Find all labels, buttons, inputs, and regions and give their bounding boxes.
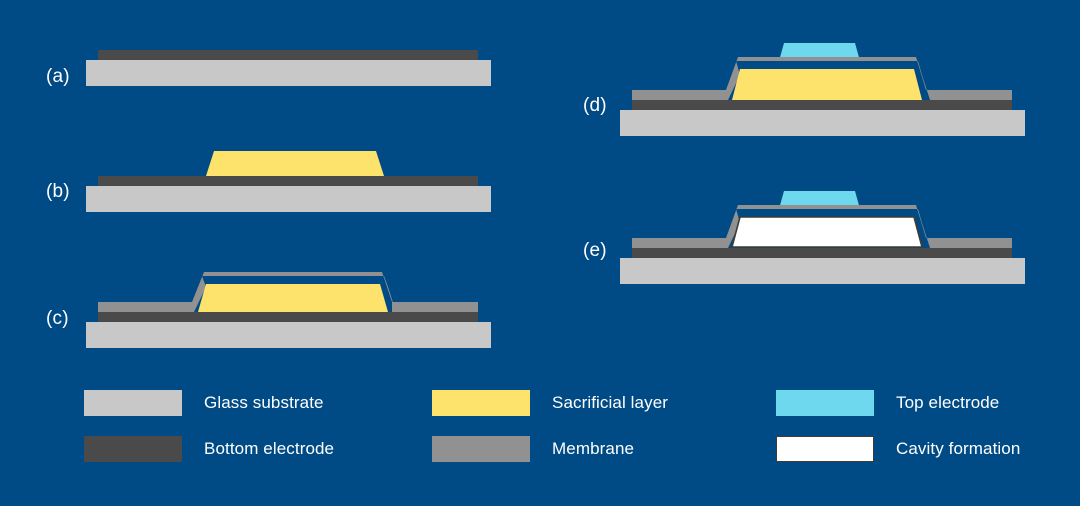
legend-swatch-sacrificial-layer: [432, 390, 530, 416]
panel-label-d: (d): [583, 95, 607, 117]
sacrificial-layer-shape: [206, 151, 384, 176]
legend-swatch-cavity-formation: [776, 436, 874, 462]
bottom-electrode-layer: [98, 312, 478, 322]
legend-swatch-membrane: [432, 436, 530, 462]
legend-item-cavity-formation: Cavity formation: [776, 436, 1020, 462]
bottom-electrode-layer: [98, 176, 478, 186]
glass-substrate-layer: [86, 322, 491, 348]
legend-label-cavity-formation: Cavity formation: [896, 439, 1020, 459]
legend-label-top-electrode: Top electrode: [896, 393, 999, 413]
legend-item-sacrificial-layer: Sacrificial layer: [432, 390, 668, 416]
glass-substrate-layer: [620, 110, 1025, 136]
legend-swatch-bottom-electrode: [84, 436, 182, 462]
panel-label-c: (c): [46, 308, 69, 330]
legend-label-bottom-electrode: Bottom electrode: [204, 439, 334, 459]
legend-swatch-glass-substrate: [84, 390, 182, 416]
sacrificial-layer-shape: [732, 69, 922, 100]
legend-item-membrane: Membrane: [432, 436, 634, 462]
glass-substrate-layer: [620, 258, 1025, 284]
panel-e-stack: [620, 186, 1030, 272]
panel-label-a: (a): [46, 66, 70, 88]
glass-substrate-layer: [86, 186, 491, 212]
cavity-shape: [732, 217, 922, 247]
sacrificial-layer-shape: [198, 284, 388, 312]
legend-item-bottom-electrode: Bottom electrode: [84, 436, 334, 462]
panel-label-b: (b): [46, 181, 70, 203]
legend-item-glass-substrate: Glass substrate: [84, 390, 324, 416]
glass-substrate-layer: [86, 60, 491, 86]
bottom-electrode-layer: [632, 100, 1012, 110]
panel-d-stack: [620, 38, 1030, 124]
legend-label-membrane: Membrane: [552, 439, 634, 459]
process-flow-figure: (a) (b) (c) (d): [0, 0, 1080, 506]
panel-label-e: (e): [583, 240, 607, 262]
membrane-left-flat: [98, 302, 194, 312]
legend: Glass substrate Bottom electrode Sacrifi…: [84, 390, 1044, 480]
bottom-electrode-layer: [98, 50, 478, 60]
legend-label-glass-substrate: Glass substrate: [204, 393, 324, 413]
bottom-electrode-layer: [632, 248, 1012, 258]
legend-swatch-top-electrode: [776, 390, 874, 416]
panel-c-stack: [86, 268, 496, 338]
legend-item-top-electrode: Top electrode: [776, 390, 999, 416]
panel-a-stack: [86, 50, 496, 90]
panel-b-stack: [86, 146, 496, 208]
membrane-right-flat: [392, 302, 478, 312]
legend-label-sacrificial-layer: Sacrificial layer: [552, 393, 668, 413]
